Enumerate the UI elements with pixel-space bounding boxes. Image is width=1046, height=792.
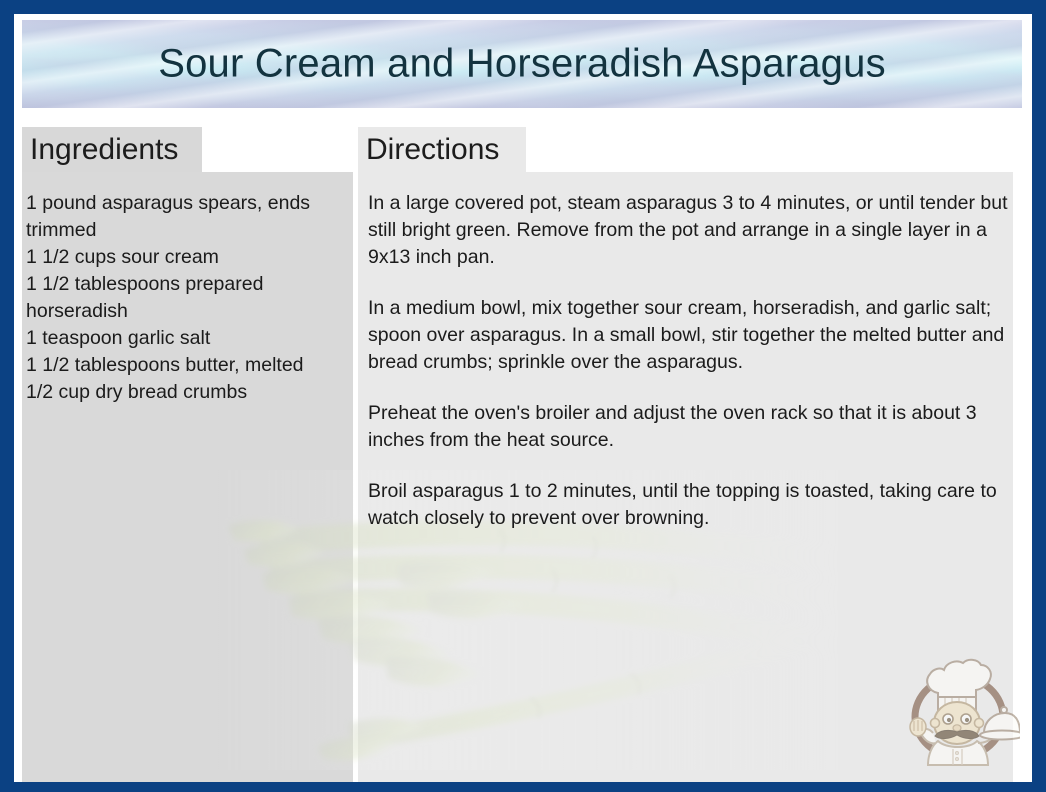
direction-step: Broil asparagus 1 to 2 minutes, until th… [368,478,1016,532]
list-item: 1 teaspoon garlic salt [26,325,351,352]
ingredients-list: 1 pound asparagus spears, ends trimmed 1… [22,190,355,406]
page-title: Sour Cream and Horseradish Asparagus [22,42,1022,87]
list-item: 1 1/2 tablespoons butter, melted [26,352,351,379]
direction-step: Preheat the oven's broiler and adjust th… [368,400,1016,454]
ingredients-heading: Ingredients [22,133,178,167]
list-item: 1/2 cup dry bread crumbs [26,379,351,406]
recipe-card: Sour Cream and Horseradish Asparagus Ing… [0,0,1046,792]
title-banner: Sour Cream and Horseradish Asparagus [22,20,1022,108]
direction-step: In a large covered pot, steam asparagus … [368,190,1016,271]
ingredients-header-tab: Ingredients [22,127,202,172]
direction-step: In a medium bowl, mix together sour crea… [368,295,1016,376]
list-item: 1 1/2 cups sour cream [26,244,351,271]
directions-header-tab: Directions [358,127,526,172]
list-item: 1 1/2 tablespoons prepared horseradish [26,271,351,325]
list-item: 1 pound asparagus spears, ends trimmed [26,190,351,244]
directions-heading: Directions [358,133,499,167]
chef-mascot-logo [898,645,1020,767]
directions-list: In a large covered pot, steam asparagus … [358,190,1024,532]
